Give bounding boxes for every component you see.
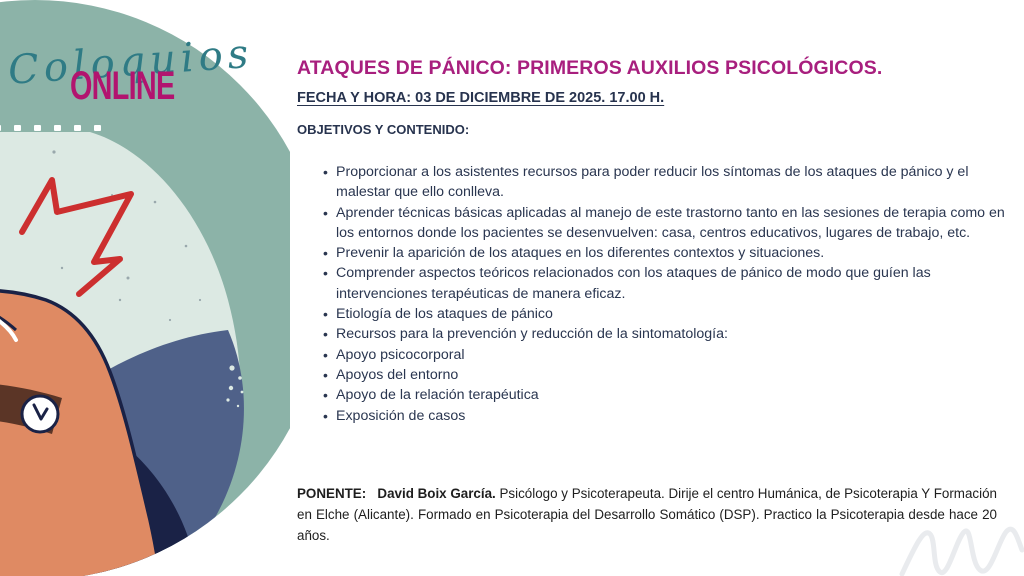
page-title: ATAQUES DE PÁNICO: PRIMEROS AUXILIOS PSI… bbox=[297, 57, 882, 80]
list-item: Apoyo psicocorporal bbox=[323, 345, 1013, 365]
date-time-line: FECHA Y HORA: 03 DE DICIEMBRE DE 2025. 1… bbox=[297, 90, 664, 106]
objectives-heading: OBJETIVOS Y CONTENIDO: bbox=[297, 122, 469, 137]
list-item: Etiología de los ataques de pánico bbox=[323, 304, 1013, 324]
list-item: Exposición de casos bbox=[323, 406, 1013, 426]
objectives-list: Proporcionar a los asistentes recursos p… bbox=[307, 162, 1013, 426]
decorative-artwork bbox=[0, 0, 290, 576]
list-item: Apoyos del entorno bbox=[323, 365, 1013, 385]
list-item: Aprender técnicas básicas aplicadas al m… bbox=[323, 203, 1013, 244]
speaker-label: PONENTE: bbox=[297, 486, 366, 501]
list-item: Prevenir la aparición de los ataques en … bbox=[323, 243, 1013, 263]
content-area: ATAQUES DE PÁNICO: PRIMEROS AUXILIOS PSI… bbox=[297, 0, 997, 576]
list-item: Recursos para la prevención y reducción … bbox=[323, 324, 1013, 344]
slide-canvas: Coloquios ONLINE ATAQUES DE PÁNICO: PRIM… bbox=[0, 0, 1024, 576]
speaker-paragraph: PONENTE: David Boix García. Psicólogo y … bbox=[297, 483, 997, 546]
list-item: Apoyo de la relación terapéutica bbox=[323, 385, 1013, 405]
list-item: Proporcionar a los asistentes recursos p… bbox=[323, 162, 1013, 203]
speaker-name: David Boix García. bbox=[377, 486, 495, 501]
list-item: Comprender aspectos teóricos relacionado… bbox=[323, 263, 1013, 304]
